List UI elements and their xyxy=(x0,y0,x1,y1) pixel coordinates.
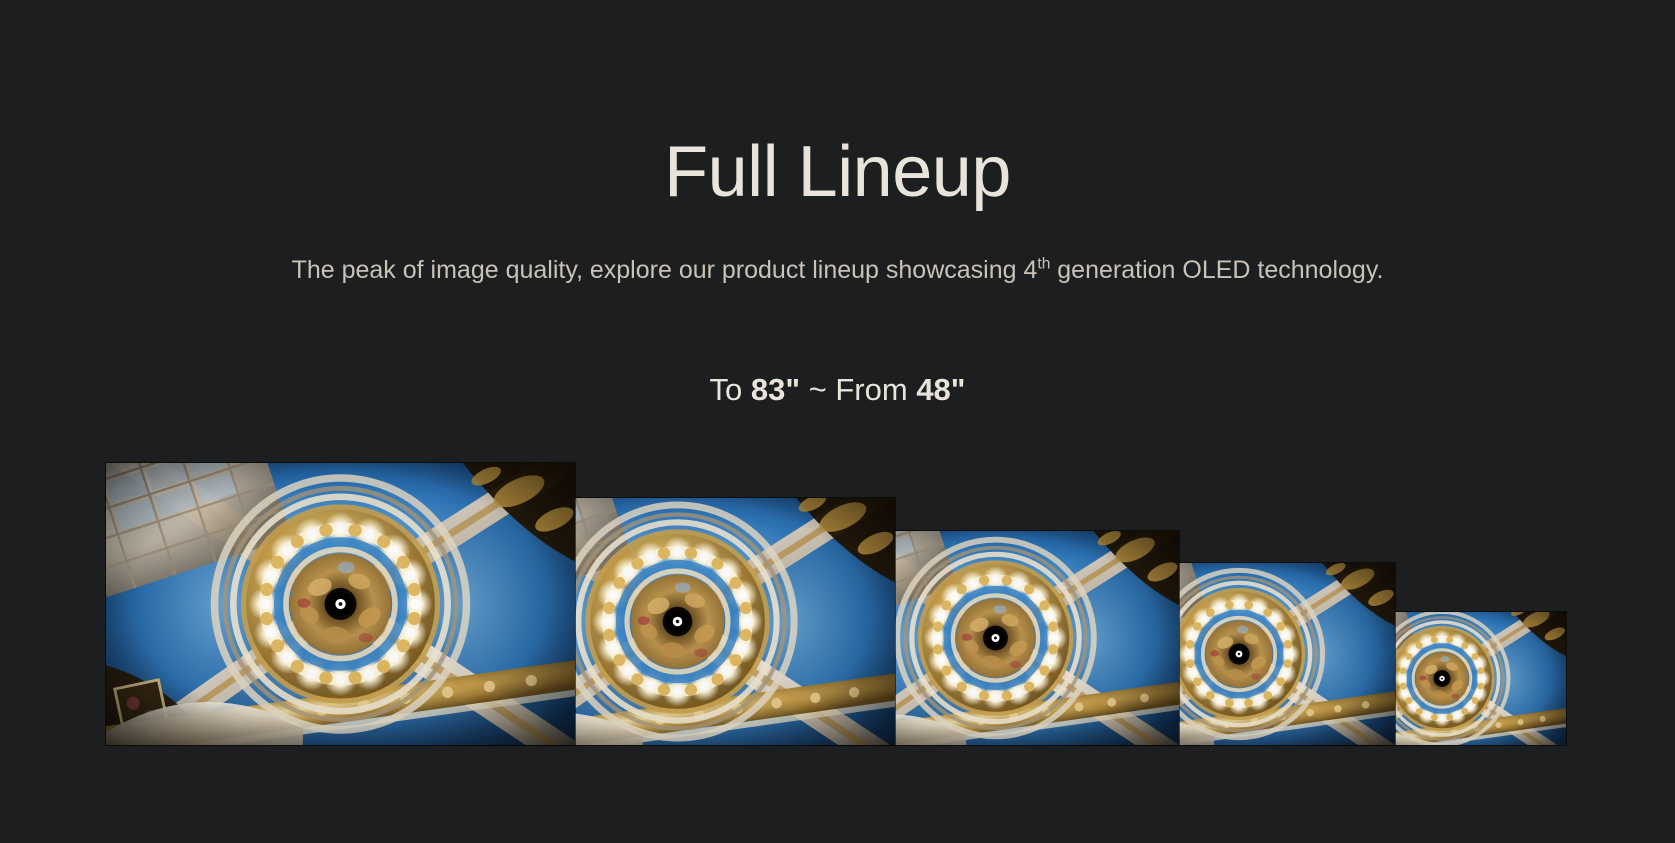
tv-panel-83[interactable] xyxy=(106,463,575,745)
tv-lineup-row: 83″ 77″ 65″ 55″ 48″ xyxy=(0,0,1675,843)
tv-screen-83 xyxy=(106,463,575,745)
full-lineup-section: Full Lineup The peak of image quality, e… xyxy=(0,0,1675,843)
dome-image-83 xyxy=(106,463,575,745)
